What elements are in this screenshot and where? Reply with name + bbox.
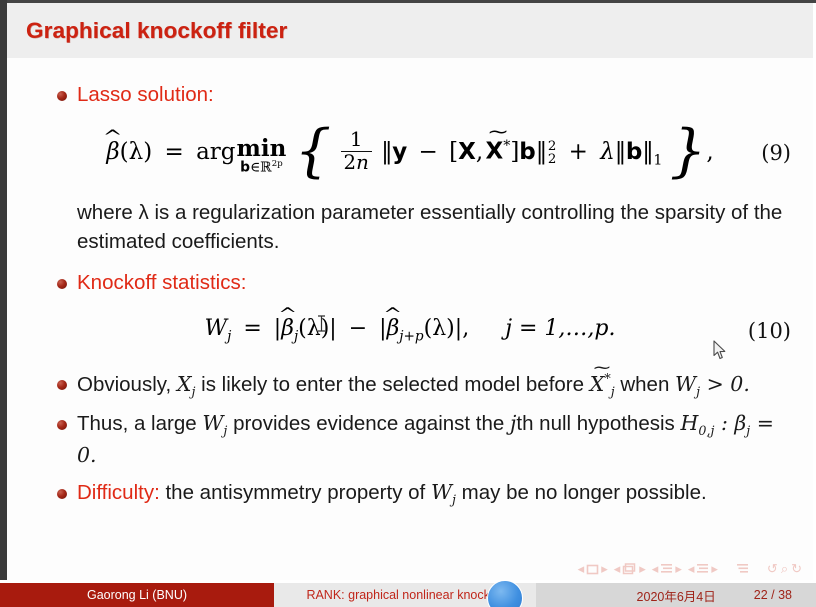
eq9-brace-open: { — [295, 117, 332, 184]
history-nav-group[interactable]: ↺ ⌕ ↻ — [767, 561, 802, 577]
equation-10: Wj = |βj(λ)| − |βj+p(λ)|, j = 1,…,p. (10… — [7, 304, 813, 358]
statement-thus-colon: : — [714, 411, 734, 435]
eq10-beta2: β — [387, 316, 400, 341]
frame-prev-icon[interactable]: ◂ — [614, 561, 621, 577]
eq9-b2: b — [626, 139, 642, 165]
statement-obviously-Xtilde-sub: j — [611, 384, 615, 399]
eq9-plus: + — [569, 139, 588, 165]
eq10-W-sub: j — [227, 329, 231, 345]
footer-author: Gaorong Li (BNU) — [0, 583, 274, 607]
statement-difficulty-pre: the antisymmetry property of — [160, 481, 431, 504]
bullet-dot-icon — [57, 489, 67, 499]
statement-obviously-X: X — [177, 372, 192, 396]
subsection-icon[interactable] — [660, 563, 673, 575]
search-icon[interactable]: ⌕ — [781, 561, 788, 577]
bullet-knockoff-label: Knockoff statistics: — [77, 271, 246, 294]
eq10-minus: − — [349, 316, 367, 341]
statement-thus-W: W — [202, 411, 223, 435]
eq9-norm-sub: 2 — [548, 153, 556, 166]
eq9-min-var: b — [240, 160, 250, 176]
statement-obviously-W: W — [675, 372, 696, 396]
section-prev-icon[interactable]: ◂ — [688, 561, 695, 577]
bullet-difficulty: Difficulty: the antisymmetry property of… — [7, 478, 813, 510]
presentation-slide: Graphical knockoff filter Lasso solution… — [0, 0, 816, 607]
bullet-knockoff-statistics: Knockoff statistics: — [7, 268, 813, 298]
eq9-norm1: 1 — [653, 152, 662, 168]
section-nav-group[interactable]: ◂ ▸ — [688, 561, 718, 577]
eq9-trailing: , — [706, 139, 713, 165]
statement-thus-beta: β — [734, 411, 746, 435]
eq9-frac-num: 1 — [347, 130, 366, 151]
slide-nav-group[interactable]: ◂ ▸ — [578, 561, 608, 577]
footer-page-number: 22 / 38 — [754, 588, 792, 602]
eq9-norm-open: ‖ — [381, 139, 388, 165]
back-icon[interactable]: ↺ — [767, 561, 778, 577]
eq9-y: y — [392, 139, 407, 165]
eq9-minus: − — [419, 139, 438, 165]
bullet-dot-icon — [57, 420, 67, 430]
frame-nav-group[interactable]: ◂ ▸ — [614, 561, 646, 577]
eq9-min: min — [237, 137, 287, 160]
statement-obviously-gt: > 0. — [700, 372, 750, 396]
bullet-thus: Thus, a large Wj provides evidence again… — [7, 409, 813, 470]
mouse-pointer-cursor — [713, 340, 727, 360]
eq9-Xstar: X — [485, 139, 503, 165]
footer-date: 2020年6月4日 — [637, 586, 716, 605]
bullet-dot-icon — [57, 279, 67, 289]
footer-meta: 2020年6月4日 22 / 38 — [536, 583, 816, 607]
slide-icon[interactable] — [586, 564, 599, 575]
subsection-next-icon[interactable]: ▸ — [675, 561, 682, 577]
document-nav-group[interactable] — [736, 563, 749, 575]
eq9-brace-close: } — [670, 117, 707, 184]
eq9-min-set: ∈ℝ — [250, 160, 272, 176]
eq9-comma: , — [476, 139, 483, 165]
statement-thus-H: H — [680, 411, 698, 435]
eq10-j-range: j = 1,…,p. — [505, 316, 615, 341]
subsection-prev-icon[interactable]: ◂ — [652, 561, 659, 577]
eq10-equals: = — [243, 316, 261, 341]
bullet-obviously: Obviously, Xj is likely to enter the sel… — [7, 370, 813, 402]
eq9-bracket-close: ] — [510, 139, 519, 165]
eq9-min-exp: 2p — [272, 159, 283, 169]
text-ibeam-cursor — [317, 315, 326, 332]
bullet-dot-icon — [57, 91, 67, 101]
slide-body: Lasso solution: β(λ) = argminb∈ℝ2p { 12n… — [7, 58, 813, 580]
statement-obviously-pre: Obviously, — [77, 373, 177, 396]
beamer-navigation-symbols[interactable]: ◂ ▸ ◂ ▸ ◂ ▸ ◂ — [578, 561, 802, 577]
statement-thus-th: th null hypothesis — [516, 412, 680, 435]
slide-footer: Gaorong Li (BNU) RANK: graphical nonline… — [0, 583, 816, 607]
document-icon[interactable] — [736, 563, 749, 575]
slide-next-icon[interactable]: ▸ — [601, 561, 608, 577]
statement-thus-pre: Thus, a large — [77, 412, 202, 435]
slide-prev-icon[interactable]: ◂ — [578, 561, 585, 577]
statement-difficulty-W: W — [431, 480, 452, 504]
eq9-beta: β — [106, 139, 119, 165]
section-next-icon[interactable]: ▸ — [711, 561, 718, 577]
statement-obviously-Xtilde: X — [590, 372, 605, 396]
eq9-lambda-arg: (λ) — [120, 139, 153, 165]
statement-thus-mid: provides evidence against the — [227, 412, 510, 435]
equation-9: β(λ) = argminb∈ℝ2p { 12n ‖y − [X, X*]b‖2… — [7, 114, 813, 192]
section-icon[interactable] — [696, 563, 709, 575]
paragraph-where-lambda: where λ is a regularization parameter es… — [7, 198, 813, 256]
statement-difficulty-post: may be no longer possible. — [456, 481, 707, 504]
page-title: Graphical knockoff filter — [7, 18, 287, 44]
eq9-equals: = — [165, 139, 184, 165]
eq10-lam2: (λ) — [424, 316, 455, 341]
eq9-X: X — [458, 139, 476, 165]
eq9-arg: arg — [196, 139, 235, 165]
left-sidebar-spine — [0, 0, 7, 580]
eq10-beta2-sub: j+p — [399, 329, 423, 345]
bullet-lasso-label: Lasso solution: — [77, 83, 214, 106]
eq9-star: * — [503, 138, 510, 154]
eq9-norm-close: ‖ — [536, 139, 543, 165]
equation-10-number: (10) — [748, 319, 791, 343]
equation-9-number: (9) — [761, 141, 791, 165]
slide-header: Graphical knockoff filter — [7, 3, 813, 58]
frame-next-icon[interactable]: ▸ — [639, 561, 646, 577]
subsection-nav-group[interactable]: ◂ ▸ — [652, 561, 682, 577]
statement-obviously-mid: is likely to enter the selected model be… — [195, 373, 589, 396]
eq10-beta1: β — [281, 316, 294, 341]
bullet-lasso-solution: Lasso solution: — [7, 80, 813, 110]
eq9-lambda: λ — [600, 139, 615, 165]
forward-icon[interactable]: ↻ — [791, 561, 802, 577]
frames-icon[interactable] — [622, 563, 637, 575]
eq10-comma: , — [462, 316, 469, 341]
bullet-dot-icon — [57, 380, 67, 390]
eq10-W: W — [205, 316, 228, 341]
statement-obviously-post: when — [615, 373, 675, 396]
eq9-b: b — [519, 139, 535, 165]
statement-thus-H-sub: 0,j — [698, 423, 714, 438]
eq9-norm-sup: 2 — [548, 140, 556, 153]
eq9-bracket-open: [ — [449, 139, 458, 165]
statement-difficulty-label: Difficulty: — [77, 481, 160, 504]
